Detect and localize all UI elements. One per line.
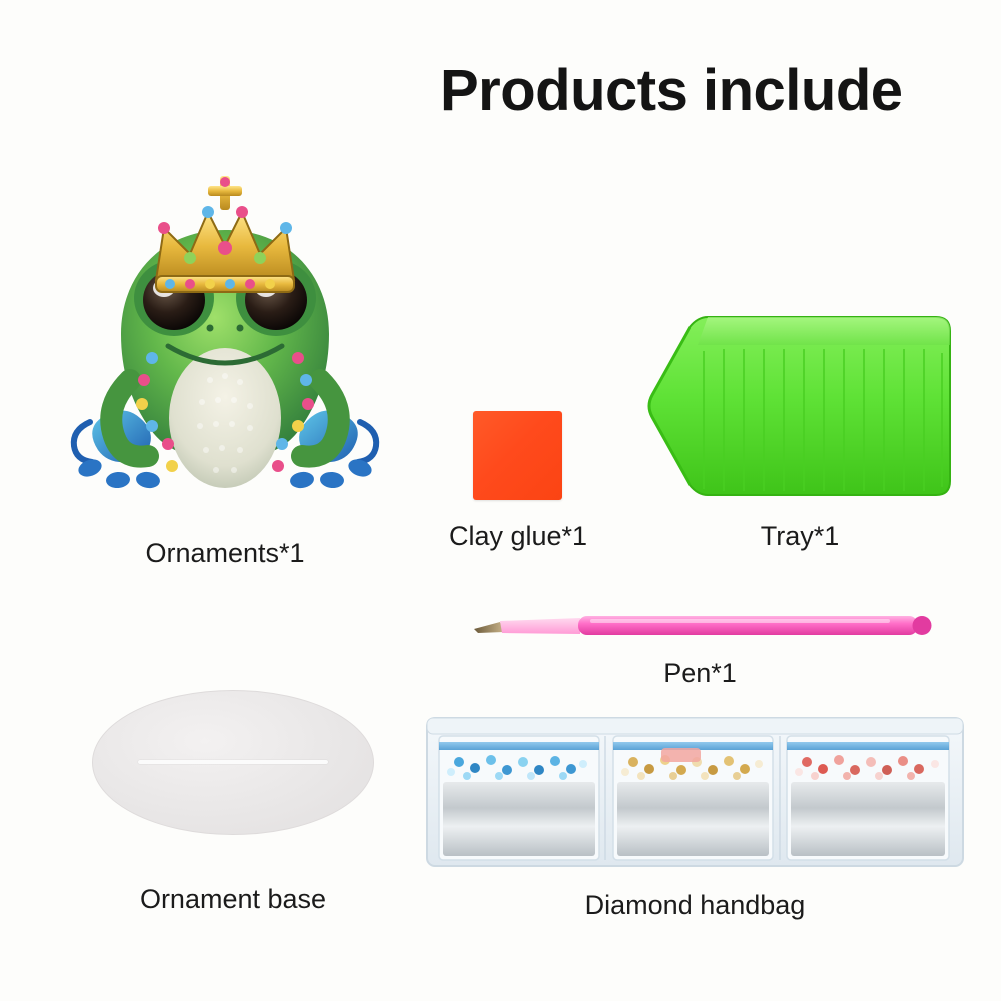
- handbag-pouches-shape: [439, 736, 949, 860]
- ornament-base-caption: Ornament base: [92, 884, 374, 915]
- clay-glue-caption: Clay glue*1: [408, 521, 628, 552]
- frog-belly-shape: [169, 348, 281, 488]
- ornament-base-icon: [92, 690, 374, 835]
- product-contents-poster: Products include: [0, 0, 1001, 1001]
- diamond-handbag-icon: [425, 712, 965, 872]
- pen-caption: Pen*1: [580, 658, 820, 689]
- clay-glue-icon: [473, 411, 562, 500]
- tray-caption: Tray*1: [670, 521, 930, 552]
- tray-icon: [640, 305, 960, 510]
- base-slot-shape: [138, 760, 328, 764]
- frog-ornament-icon: [60, 150, 390, 500]
- pen-tip-shape: [474, 622, 504, 633]
- page-title: Products include: [440, 62, 985, 120]
- pen-icon: [470, 605, 940, 650]
- ornaments-caption: Ornaments*1: [60, 538, 390, 569]
- diamond-handbag-caption: Diamond handbag: [425, 890, 965, 921]
- pen-barrel-shape: [578, 616, 918, 635]
